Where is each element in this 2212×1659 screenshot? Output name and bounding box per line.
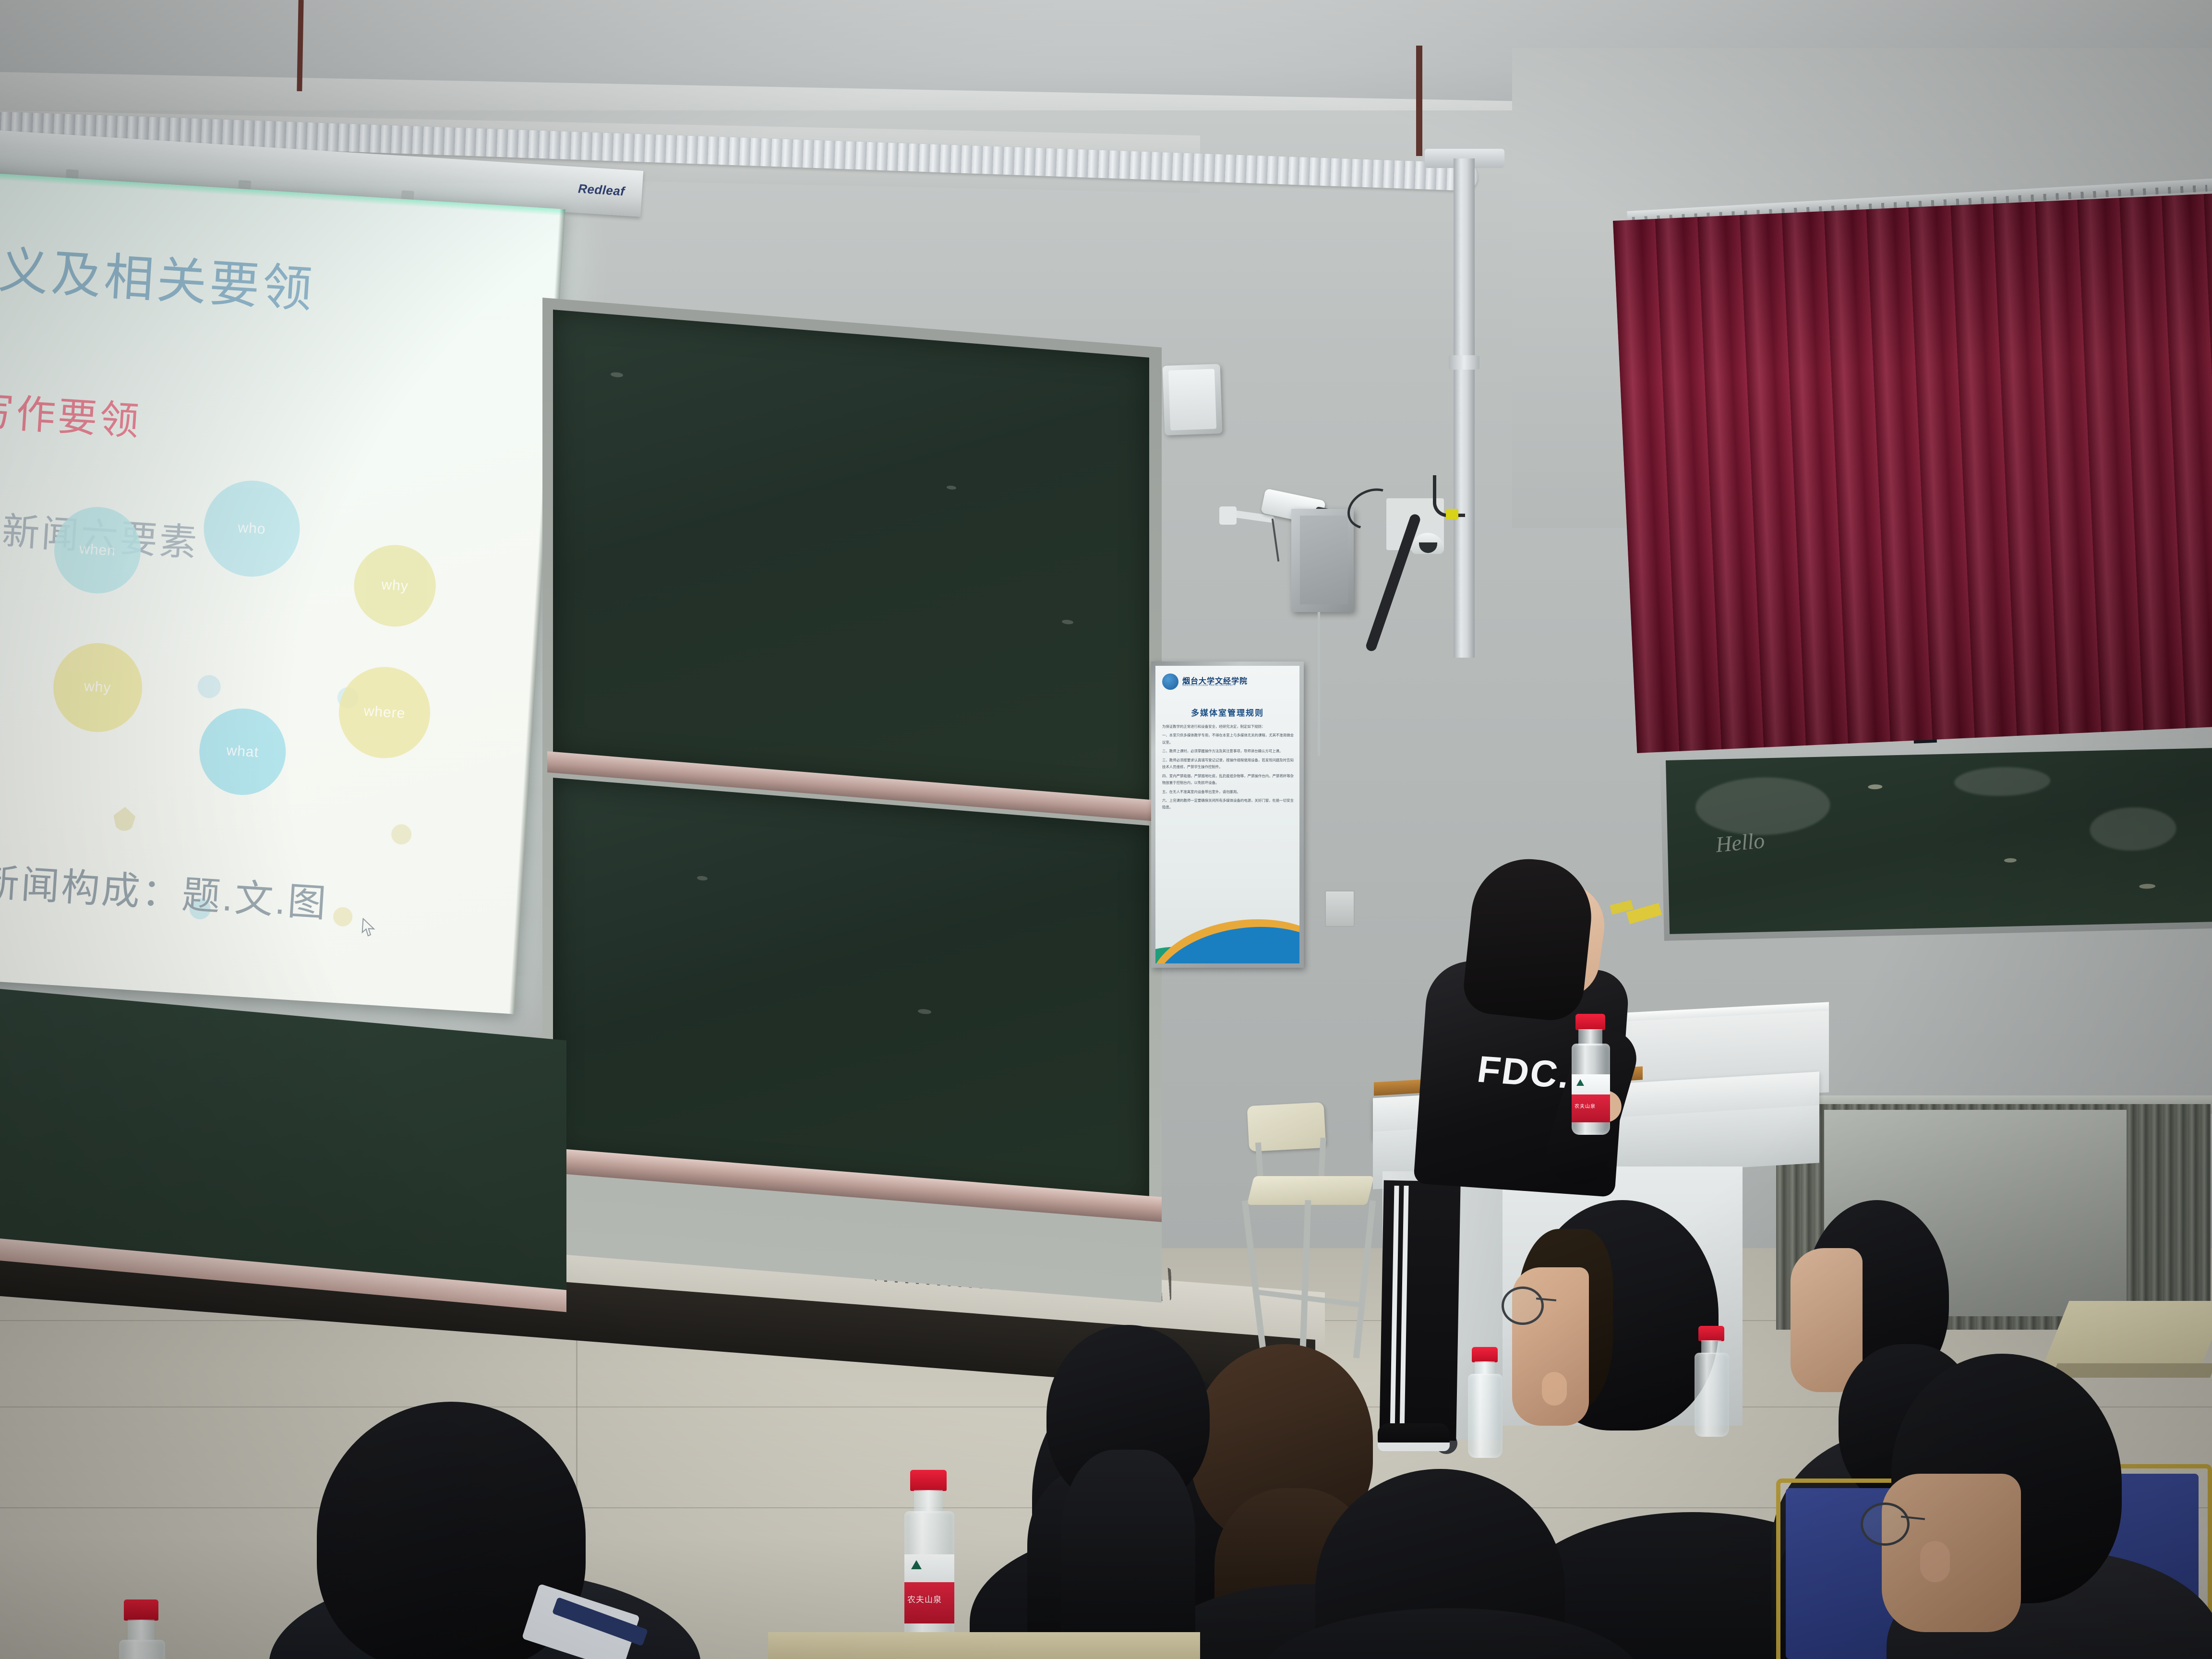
bubble-where-4: where bbox=[336, 664, 433, 761]
poster-rule: 一、本室只供多媒体教学专用，不得在本室上与多媒体无关的课程，尤其不准用做会议室。 bbox=[1162, 732, 1294, 746]
wall-speaker bbox=[1163, 364, 1223, 435]
screen-brand-label: Redleaf bbox=[577, 181, 625, 199]
poster-intro: 为保证教学的正常进行和设备安全，经研究决定，制定如下规则： bbox=[1162, 723, 1294, 730]
pipe-coupling-ring bbox=[1449, 355, 1479, 370]
poster-rule: 二、教师上课时，必须掌握操作方法及其注意事项，导师讲台确认方可上课。 bbox=[1162, 748, 1294, 755]
bubble-label: why bbox=[84, 678, 111, 696]
wall-power-socket[interactable] bbox=[1325, 890, 1355, 927]
poster-body: 为保证教学的正常进行和设备安全，经研究决定，制定如下规则： 一、本室只供多媒体教… bbox=[1162, 723, 1294, 813]
ceiling-vertical-pipe bbox=[1454, 158, 1475, 658]
poster-rule: 四、室内严禁吸烟，严禁随地吐痰，乱扔废纸杂物等，严禁操作台内，严禁将杯等杂物放置… bbox=[1162, 773, 1294, 787]
projection-screen: 定义及相关要领 写作要领 1.新闻六要素 whowhenwhywhywherew… bbox=[0, 173, 565, 1014]
student-desk-right bbox=[2040, 1301, 2212, 1373]
left-blackboard-upper bbox=[553, 310, 1149, 804]
bubble-label: when bbox=[79, 541, 116, 560]
poster-rule: 三、教师必须按要求认真填写登记记录，按操作规程使用设备，若发现问题及时告知技术人… bbox=[1162, 757, 1294, 771]
student-desk-edge bbox=[2052, 1363, 2212, 1378]
chalk-writing: Hello bbox=[1715, 828, 1766, 857]
poster-rule: 六、上完课的教师一定要确保关闭所有多媒体设备的电源，关好门窗，杜绝一切安全隐患。 bbox=[1162, 797, 1294, 811]
classroom-scene: Redleaf 定义及相关要领 写作要领 1.新闻六要素 whowhenwhyw… bbox=[0, 0, 2212, 1659]
wall-cable-drop bbox=[1318, 612, 1320, 756]
maroon-curtains[interactable] bbox=[1613, 193, 2212, 753]
wall-poster: 烟台大学文经学院 WENJING COLLEGE YANTAI UNIVERSI… bbox=[1155, 666, 1299, 963]
bubble-who-0: who bbox=[201, 478, 302, 579]
left-blackboard-lower bbox=[553, 778, 1149, 1205]
slide-title: 定义及相关要领 bbox=[0, 226, 317, 321]
ear bbox=[1542, 1372, 1567, 1406]
bubble-label: what bbox=[226, 743, 259, 761]
bottle-brand-label-front: 农夫山泉 bbox=[907, 1593, 942, 1605]
bottle-brand-label: 农夫山泉 bbox=[1575, 1102, 1596, 1109]
red-pipe-right bbox=[1416, 46, 1422, 156]
presenter-shoe-sole bbox=[1378, 1443, 1450, 1451]
eyeglasses-icon bbox=[1502, 1286, 1544, 1325]
slide-bullet-3: 2.新闻构成：题.文.图 bbox=[0, 849, 330, 928]
wall-poster-frame: 烟台大学文经学院 WENJING COLLEGE YANTAI UNIVERSI… bbox=[1151, 661, 1304, 968]
poster-title: 多媒体室管理规则 bbox=[1155, 706, 1299, 718]
bubble-label: who bbox=[238, 519, 266, 538]
university-logo-icon bbox=[1162, 673, 1178, 690]
ear-2 bbox=[1920, 1541, 1950, 1582]
mouse-cursor-icon bbox=[361, 918, 376, 938]
yellow-cable-tag bbox=[1446, 509, 1458, 519]
camera-mount bbox=[1219, 506, 1237, 525]
right-blackboard: Hello bbox=[1666, 748, 2212, 934]
eyeglasses-icon-2 bbox=[1861, 1503, 1910, 1546]
poster-institution-sub: WENJING COLLEGE YANTAI UNIVERSITY bbox=[1182, 684, 1236, 687]
front-desk-surface bbox=[768, 1632, 1200, 1659]
slide-bullet-1: 写作要领 bbox=[0, 379, 143, 447]
bubble-label: where bbox=[363, 703, 406, 722]
bubble-label: why bbox=[381, 577, 409, 595]
bubble-what-5: what bbox=[197, 706, 289, 798]
poster-rule: 五、在无人不准离室内设备带出室外，请勿挪用。 bbox=[1162, 789, 1294, 795]
bubble-why-3: why bbox=[50, 640, 144, 734]
bubble-why-2: why bbox=[351, 542, 438, 629]
projector-mount-box bbox=[1291, 509, 1354, 612]
